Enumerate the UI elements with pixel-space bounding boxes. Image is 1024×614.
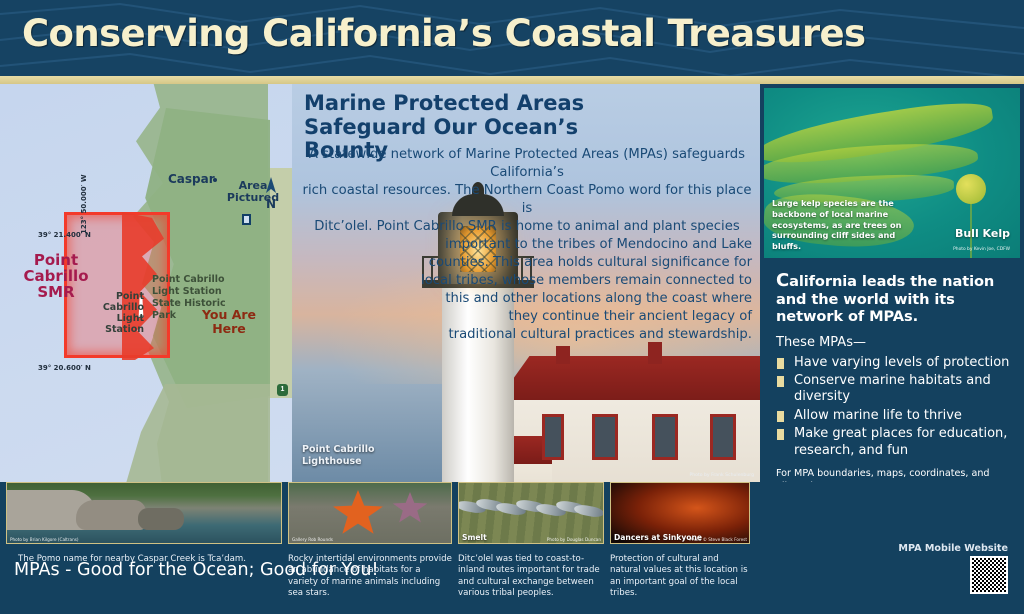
- photo-caspar-creek: Photo by Brian Kilgore (Caltrans): [6, 482, 282, 544]
- body-line-8: they continue their ancient legacy of: [302, 308, 752, 326]
- qr-code[interactable]: [970, 556, 1008, 594]
- list-item: Have varying levels of protection: [776, 355, 1012, 371]
- map-label-light-station: Point Cabrillo Light Station: [78, 292, 144, 336]
- chimney-right-icon: [648, 342, 662, 364]
- house-window-2: [592, 414, 618, 460]
- facts-heading-text: alifornia leads the nation and the world…: [776, 273, 994, 325]
- compass-north-label: N: [266, 197, 276, 211]
- caspar-dot-icon: [213, 178, 217, 182]
- body-line-6: local tribes, whose members remain conne…: [302, 272, 752, 290]
- chimney-left-icon: [556, 346, 570, 364]
- body-line-1: A statewide network of Marine Protected …: [302, 146, 752, 182]
- lighthouse-house-roof: [498, 356, 760, 400]
- lighthouse-photo-caption: Point Cabrillo Lighthouse: [302, 444, 375, 468]
- body-line-2: rich coastal resources. The Northern Coa…: [302, 182, 752, 218]
- map-label-caspar: Caspar: [168, 172, 215, 186]
- list-item: Conserve marine habitats and diversity: [776, 373, 1012, 406]
- photo-caption-smelt: Ditc’olel was tied to coast-to-inland ro…: [458, 554, 604, 600]
- photo-sea-stars: Gallery Rob Rounds: [288, 482, 452, 544]
- facts-heading-dropcap: C: [776, 270, 789, 291]
- bottom-photo-strip: Photo by Brian Kilgore (Caltrans) The Po…: [0, 482, 1024, 614]
- kelp-photo-credit: Photo by Kevin Joe, CDFW: [953, 247, 1010, 252]
- center-body-text: A statewide network of Marine Protected …: [302, 146, 752, 343]
- lighthouse-photo-credit: Photo by Frank Schulenburg: [689, 473, 754, 478]
- map-coordinate-west: 123° 50.000′ W: [80, 174, 88, 234]
- photo-credit: Photo by Brian Kilgore (Caltrans): [10, 537, 79, 542]
- area-pictured-marker-icon: [242, 214, 251, 225]
- facts-heading: California leads the nation and the worl…: [776, 270, 1012, 326]
- body-line-9: traditional cultural practices and stewa…: [302, 326, 752, 344]
- photo-smelt: Smelt Photo by Douglas Duncan: [458, 482, 604, 544]
- map-label-you-are-here: You Are Here: [196, 308, 262, 336]
- photo-frame: [288, 482, 452, 544]
- body-line-4: important to the tribes of Mendocino and…: [302, 236, 752, 254]
- map-coordinate-north-bottom: 39° 20.600′ N: [38, 364, 91, 372]
- facts-subheading: These MPAs—: [776, 335, 1012, 350]
- body-line-7: this and other locations along the coast…: [302, 290, 752, 308]
- qr-code-pattern: [972, 558, 1006, 592]
- location-map: Point Cabrillo SMR Caspar Point Cabrillo…: [0, 84, 292, 482]
- house-window-1: [542, 414, 564, 460]
- kelp-species-name: Bull Kelp: [955, 227, 1010, 240]
- photo-credit: Photo by Douglas Duncan: [547, 537, 601, 542]
- compass-rose-icon: N: [261, 177, 281, 213]
- photo-credit: Gallery Rob Rounds: [292, 537, 333, 542]
- interpretive-sign: Conserving California’s Coastal Treasure…: [0, 0, 1024, 614]
- house-window-3: [652, 414, 678, 460]
- page-title: Conserving California’s Coastal Treasure…: [22, 12, 865, 55]
- lighthouse-feature-panel: Marine Protected Areas Safeguard Our Oce…: [292, 84, 760, 482]
- list-item: Allow marine life to thrive: [776, 408, 1012, 424]
- mpa-mobile-website-label: MPA Mobile Website: [898, 543, 1008, 554]
- highway-1-shield-icon: 1: [277, 384, 288, 396]
- footer-tagline: MPAs - Good for the Ocean; Good for You!: [14, 560, 379, 580]
- mpa-facts-panel: California leads the nation and the worl…: [762, 258, 1024, 482]
- list-item: Make great places for education, researc…: [776, 426, 1012, 459]
- photo-label-smelt: Smelt: [462, 533, 487, 542]
- center-heading-line-1: Marine Protected Areas: [304, 92, 624, 116]
- mpa-benefits-list: Have varying levels of protection Conser…: [776, 355, 1012, 459]
- body-line-5: counties. This area holds cultural signi…: [302, 254, 752, 272]
- kelp-pneumatocyst-float: [956, 174, 986, 204]
- bull-kelp-photo: Large kelp species are the backbone of l…: [762, 88, 1020, 258]
- photo-dancers-at-sinkyone: Dancers at Sinkyone Photo © Steve Black …: [610, 482, 750, 544]
- body-line-3: Ditc’olel. Point Cabrillo SMR is home to…: [302, 218, 752, 236]
- header-gold-divider: [0, 76, 1024, 84]
- kelp-caption: Large kelp species are the backbone of l…: [772, 198, 922, 252]
- photo-credit: Photo © Steve Black Forest: [689, 537, 747, 542]
- photo-frame: [6, 482, 282, 544]
- sign-header: Conserving California’s Coastal Treasure…: [0, 0, 1024, 76]
- photo-caption-dancers: Protection of cultural and natural value…: [610, 554, 750, 600]
- house-window-4: [710, 414, 736, 460]
